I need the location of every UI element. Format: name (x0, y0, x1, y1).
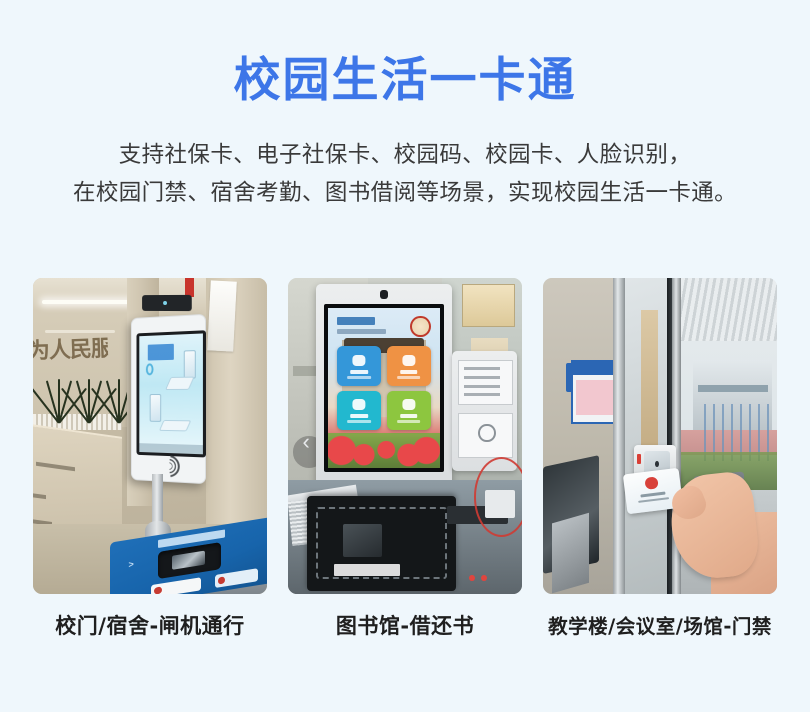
promo-page: 校园生活一卡通 支持社保卡、电子社保卡、校园码、校园卡、人脸识别， 在校园门禁、… (0, 0, 810, 712)
card-reader-window (158, 542, 221, 578)
face-camera-icon (142, 295, 192, 311)
rfid-scan-pad (307, 496, 457, 591)
subtitle-line-1: 支持社保卡、电子社保卡、校园码、校园卡、人脸识别， (0, 137, 810, 175)
gallery-card-3-caption: 教学楼/会议室/场馆-门禁 (543, 610, 777, 639)
face-recognition-terminal (131, 314, 206, 485)
kiosk-touchscreen (324, 304, 443, 472)
page-subtitle: 支持社保卡、电子社保卡、校园码、校园卡、人脸识别， 在校园门禁、宿舍考勤、图书借… (0, 137, 810, 213)
campus-gate-turnstile-photo: 为人民服务 (33, 278, 267, 594)
kiosk-tile-search[interactable] (337, 391, 381, 430)
gallery-card-2-caption: 图书馆-借还书 (288, 610, 522, 640)
gallery-card-1[interactable]: 为人民服务 (33, 278, 267, 640)
library-seal-icon (410, 316, 431, 338)
page-title: 校园生活一卡通 (0, 56, 810, 107)
subtitle-line-2: 在校园门禁、宿舍考勤、图书借阅等场景，实现校园生活一卡通。 (0, 175, 810, 213)
gallery-card-3[interactable]: 教学楼/会议室/场馆-门禁 (543, 278, 777, 640)
terminal-screen (137, 330, 206, 458)
access-control-card-reader-photo (543, 278, 777, 594)
kiosk-body (316, 284, 452, 489)
national-emblem-icon (645, 476, 659, 490)
notice-board (571, 360, 617, 424)
header: 校园生活一卡通 支持社保卡、电子社保卡、校园码、校园卡、人脸识别， 在校园门禁、… (0, 0, 810, 212)
gallery-card-2[interactable]: 图书馆-借还书 (288, 278, 522, 640)
wall-calligraphy: 为人民服务 (33, 330, 109, 374)
kiosk-tile-return[interactable] (387, 346, 431, 385)
library-self-service-kiosk-photo (288, 278, 522, 594)
side-printer-panel (452, 351, 518, 471)
kiosk-camera-icon (380, 290, 388, 298)
kiosk-tile-query[interactable] (387, 391, 431, 430)
gallery: 为人民服务 (33, 278, 777, 640)
kiosk-menu-tiles (337, 346, 431, 429)
gallery-card-1-caption: 校门/宿舍-闸机通行 (33, 610, 267, 640)
kiosk-tile-borrow[interactable] (337, 346, 381, 385)
nfc-wave-icon (159, 455, 177, 474)
